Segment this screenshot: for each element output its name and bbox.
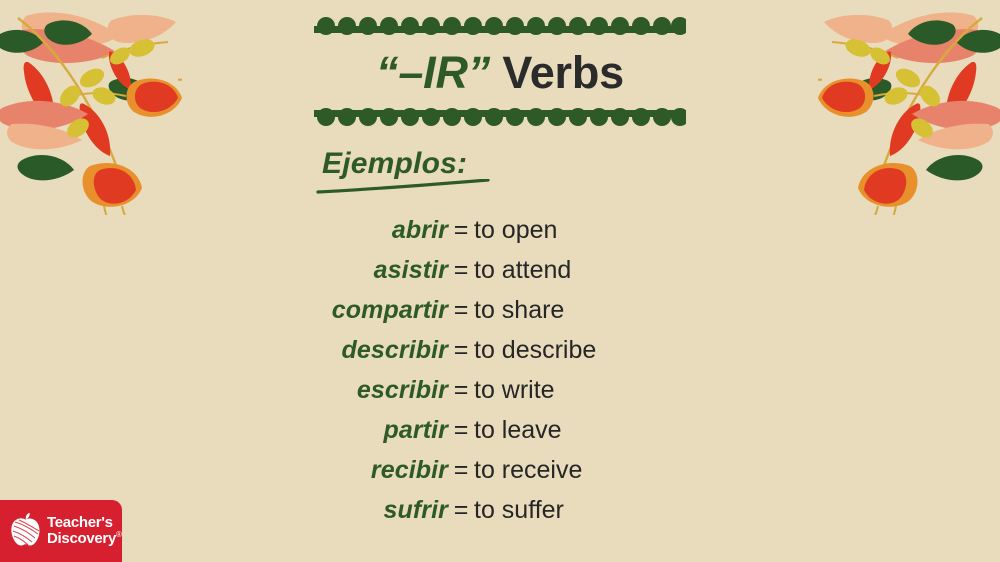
section-heading: Ejemplos: [322, 148, 512, 180]
verb-english: to leave [474, 410, 704, 450]
verb-english: to share [474, 290, 704, 330]
verb-spanish: describir [296, 330, 448, 370]
list-item: sufrir = to suffer [0, 490, 1000, 530]
equals-sign: = [448, 250, 474, 290]
list-item: escribir = to write [0, 370, 1000, 410]
verb-spanish: asistir [296, 250, 448, 290]
verb-english: to receive [474, 450, 704, 490]
equals-sign: = [448, 490, 474, 530]
verb-english: to describe [474, 330, 704, 370]
apple-icon [9, 512, 41, 550]
verb-spanish: sufrir [296, 490, 448, 530]
list-item: partir = to leave [0, 410, 1000, 450]
title-block: “–IR” Verbs [0, 12, 1000, 131]
equals-sign: = [448, 210, 474, 250]
list-item: compartir = to share [0, 290, 1000, 330]
equals-sign: = [448, 370, 474, 410]
verb-spanish: compartir [296, 290, 448, 330]
verb-english: to suffer [474, 490, 704, 530]
verb-english: to open [474, 210, 704, 250]
verb-spanish: recibir [296, 450, 448, 490]
logo-line-2: Discovery [47, 530, 116, 547]
equals-sign: = [448, 410, 474, 450]
equals-sign: = [448, 290, 474, 330]
verb-list: abrir = to open asistir = to attend comp… [0, 210, 1000, 530]
title-ir-part: “–IR” [376, 47, 490, 98]
verb-english: to write [474, 370, 704, 410]
list-item: asistir = to attend [0, 250, 1000, 290]
equals-sign: = [448, 450, 474, 490]
list-item: recibir = to receive [0, 450, 1000, 490]
page-title: “–IR” Verbs [376, 50, 624, 95]
scalloped-divider-down-icon [314, 107, 686, 131]
equals-sign: = [448, 330, 474, 370]
list-item: abrir = to open [0, 210, 1000, 250]
scalloped-divider-up-icon [314, 12, 686, 36]
logo-line-1: Teacher's [47, 515, 122, 531]
logo-text: Teacher's Discovery® [47, 515, 122, 546]
verb-english: to attend [474, 250, 704, 290]
teachers-discovery-logo[interactable]: Teacher's Discovery® [0, 500, 122, 562]
verb-spanish: partir [296, 410, 448, 450]
registered-mark: ® [116, 530, 122, 539]
verb-spanish: abrir [296, 210, 448, 250]
hand-drawn-swoosh-underline-icon [316, 179, 494, 195]
title-verbs-part: Verbs [502, 47, 624, 98]
verb-spanish: escribir [296, 370, 448, 410]
list-item: describir = to describe [0, 330, 1000, 370]
section-heading-block: Ejemplos: [322, 148, 512, 195]
